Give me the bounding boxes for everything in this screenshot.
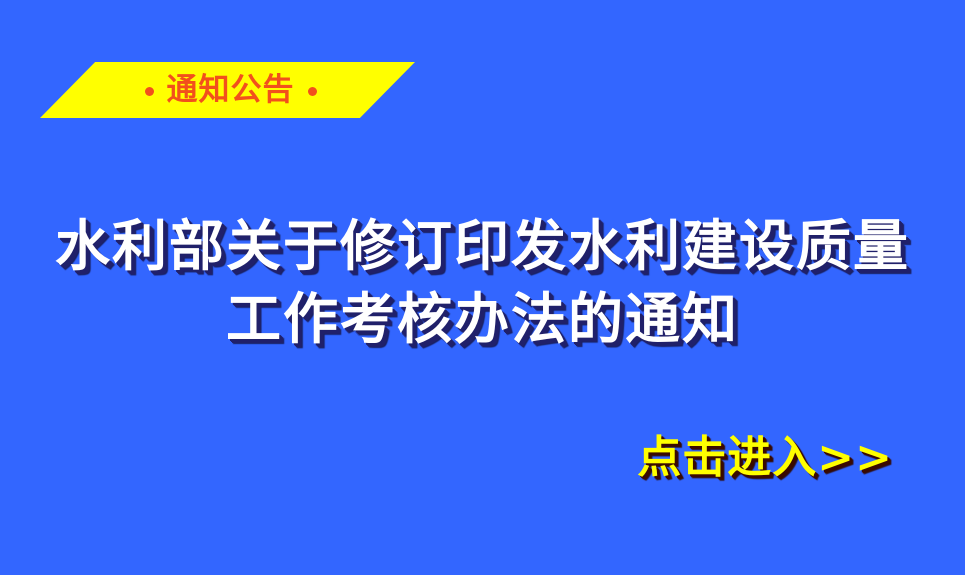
announcement-poster: 通知公告 水利部关于修订印发水利建设质量 工作考核办法的通知 点击进入>> xyxy=(0,0,965,575)
banner-label: 通知公告 xyxy=(167,75,295,106)
page-title-line-2: 工作考核办法的通知 xyxy=(0,282,965,355)
banner-right-dot-icon xyxy=(308,87,317,96)
page-title: 水利部关于修订印发水利建设质量 工作考核办法的通知 xyxy=(0,209,965,355)
enter-link[interactable]: 点击进入>> xyxy=(637,432,893,484)
notice-banner: 通知公告 xyxy=(40,62,415,118)
banner-left-dot-icon xyxy=(145,87,154,96)
banner-content: 通知公告 xyxy=(40,62,415,118)
page-title-line-1: 水利部关于修订印发水利建设质量 xyxy=(0,209,965,282)
